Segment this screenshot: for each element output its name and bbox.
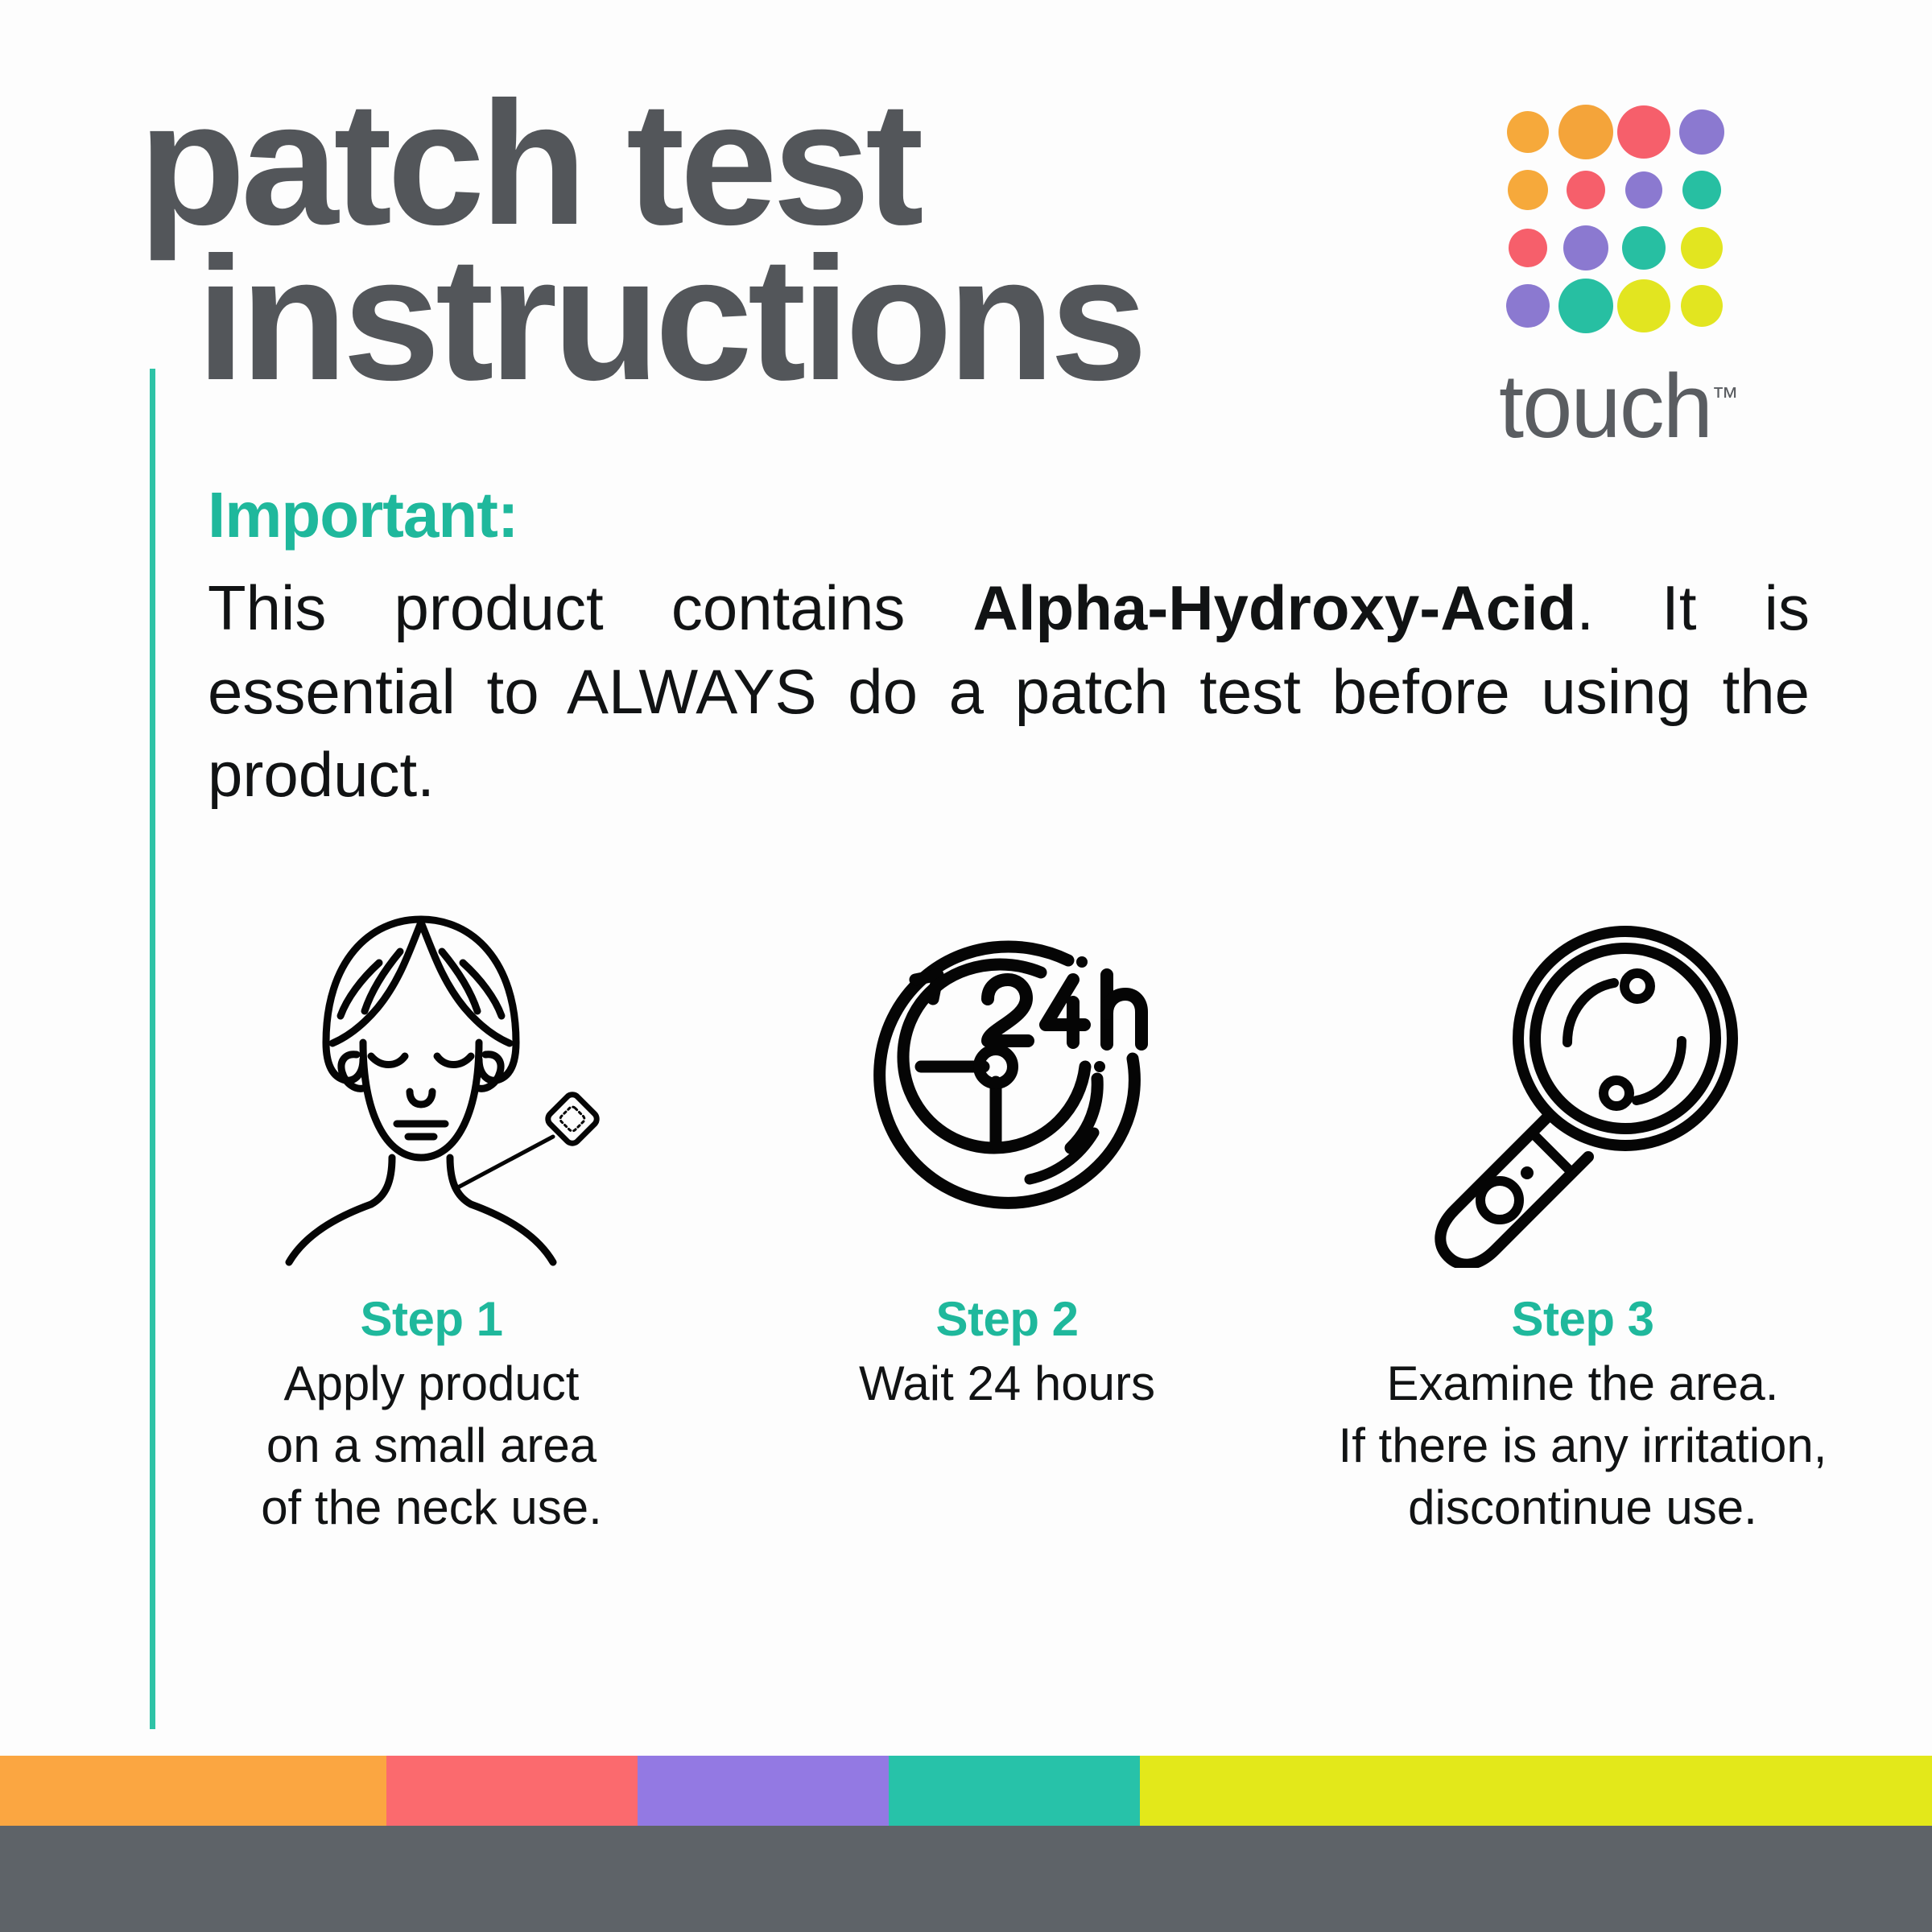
footer-color-segment-yellow [1140,1756,1932,1826]
step-description-line: Apply product [284,1356,580,1410]
step-1-description: Apply producton a small areaof the neck … [261,1353,602,1538]
page-title-line-1: patch test [138,89,1491,239]
logo-dot-cell [1557,219,1615,277]
logo-dot-cell [1499,103,1557,161]
step-description-line: Wait 24 hours [859,1356,1155,1410]
step-description-line: If there is any irritation, [1339,1418,1827,1472]
step-description-line: on a small area [266,1418,597,1472]
logo-dot-icon [1506,284,1550,328]
important-heading: Important: [208,481,1810,549]
brand-wordmark: touch™ [1499,354,1739,458]
step-3-label: Step 3 [1511,1291,1653,1347]
step-3-description: Examine the area.If there is any irritat… [1339,1353,1827,1538]
logo-dot-icon [1681,227,1723,269]
important-section: Important: This product contains Alpha-H… [208,481,1810,817]
important-body-prefix: This product contains [208,572,973,643]
logo-dot-icon [1679,109,1724,155]
logo-dot-icon [1508,170,1548,210]
step-2: Step 2 Wait 24 hours [725,902,1289,1415]
woman-with-towel-patch-icon [242,902,621,1280]
magnifying-glass-icon [1410,902,1756,1280]
step-description-line: of the neck use. [261,1480,602,1534]
footer-color-segment-purple [638,1756,889,1826]
logo-dot-icon [1625,171,1662,208]
trademark-icon: ™ [1711,382,1739,413]
footer-bottom-bar [0,1826,1932,1932]
logo-dot-cell [1673,103,1731,161]
step-1-label: Step 1 [360,1291,502,1347]
logo-dot-icon [1558,105,1613,159]
logo-dot-cell [1615,277,1673,335]
logo-dot-icon [1567,171,1605,209]
steps-row: Step 1 Apply producton a small areaof th… [150,902,1864,1538]
step-2-description: Wait 24 hours [859,1353,1155,1415]
step-1: Step 1 Apply producton a small areaof th… [150,902,713,1538]
important-body: This product contains Alpha-Hydroxy-Acid… [208,567,1810,817]
logo-dot-cell [1557,277,1615,335]
step-description-line: discontinue use. [1408,1480,1757,1534]
logo-dot-icon [1563,225,1608,270]
logo-dot-icon [1509,229,1547,267]
footer-color-segment-teal [889,1756,1140,1826]
step-description-line: Examine the area. [1387,1356,1779,1410]
patch-test-instructions-card: patch test instructions touch™ Important… [0,0,1932,1932]
logo-dot-icon [1681,285,1723,327]
logo-dot-cell [1673,161,1731,219]
logo-dot-cell [1557,161,1615,219]
clock-24h-icon [838,902,1176,1280]
brand-logo: touch™ [1499,103,1837,335]
logo-dot-icon [1617,279,1670,332]
page-title: patch test instructions [138,89,1491,395]
logo-dot-cell [1673,277,1731,335]
logo-dot-cell [1557,103,1615,161]
logo-dot-icon [1507,111,1549,153]
logo-dot-icon [1622,226,1666,270]
footer-color-segment-orange [0,1756,386,1826]
brand-wordmark-text: touch [1499,356,1711,456]
logo-dot-cell [1499,161,1557,219]
header: patch test instructions touch™ [0,0,1932,499]
step-2-label: Step 2 [935,1291,1078,1347]
logo-dot-cell [1615,161,1673,219]
touch-logo-dot-grid [1499,103,1731,335]
footer-color-bar [0,1756,1932,1826]
logo-dot-cell [1499,219,1557,277]
logo-dot-icon [1558,279,1613,333]
important-body-ingredient: Alpha-Hydroxy-Acid [973,572,1577,643]
page-title-line-2: instructions [196,244,1491,394]
logo-dot-cell [1615,103,1673,161]
step-3: Step 3 Examine the area.If there is any … [1301,902,1864,1538]
logo-dot-icon [1617,105,1670,159]
logo-dot-cell [1499,277,1557,335]
logo-dot-cell [1615,219,1673,277]
logo-dot-cell [1673,219,1731,277]
logo-dot-icon [1682,171,1721,209]
footer-color-segment-coral [386,1756,638,1826]
